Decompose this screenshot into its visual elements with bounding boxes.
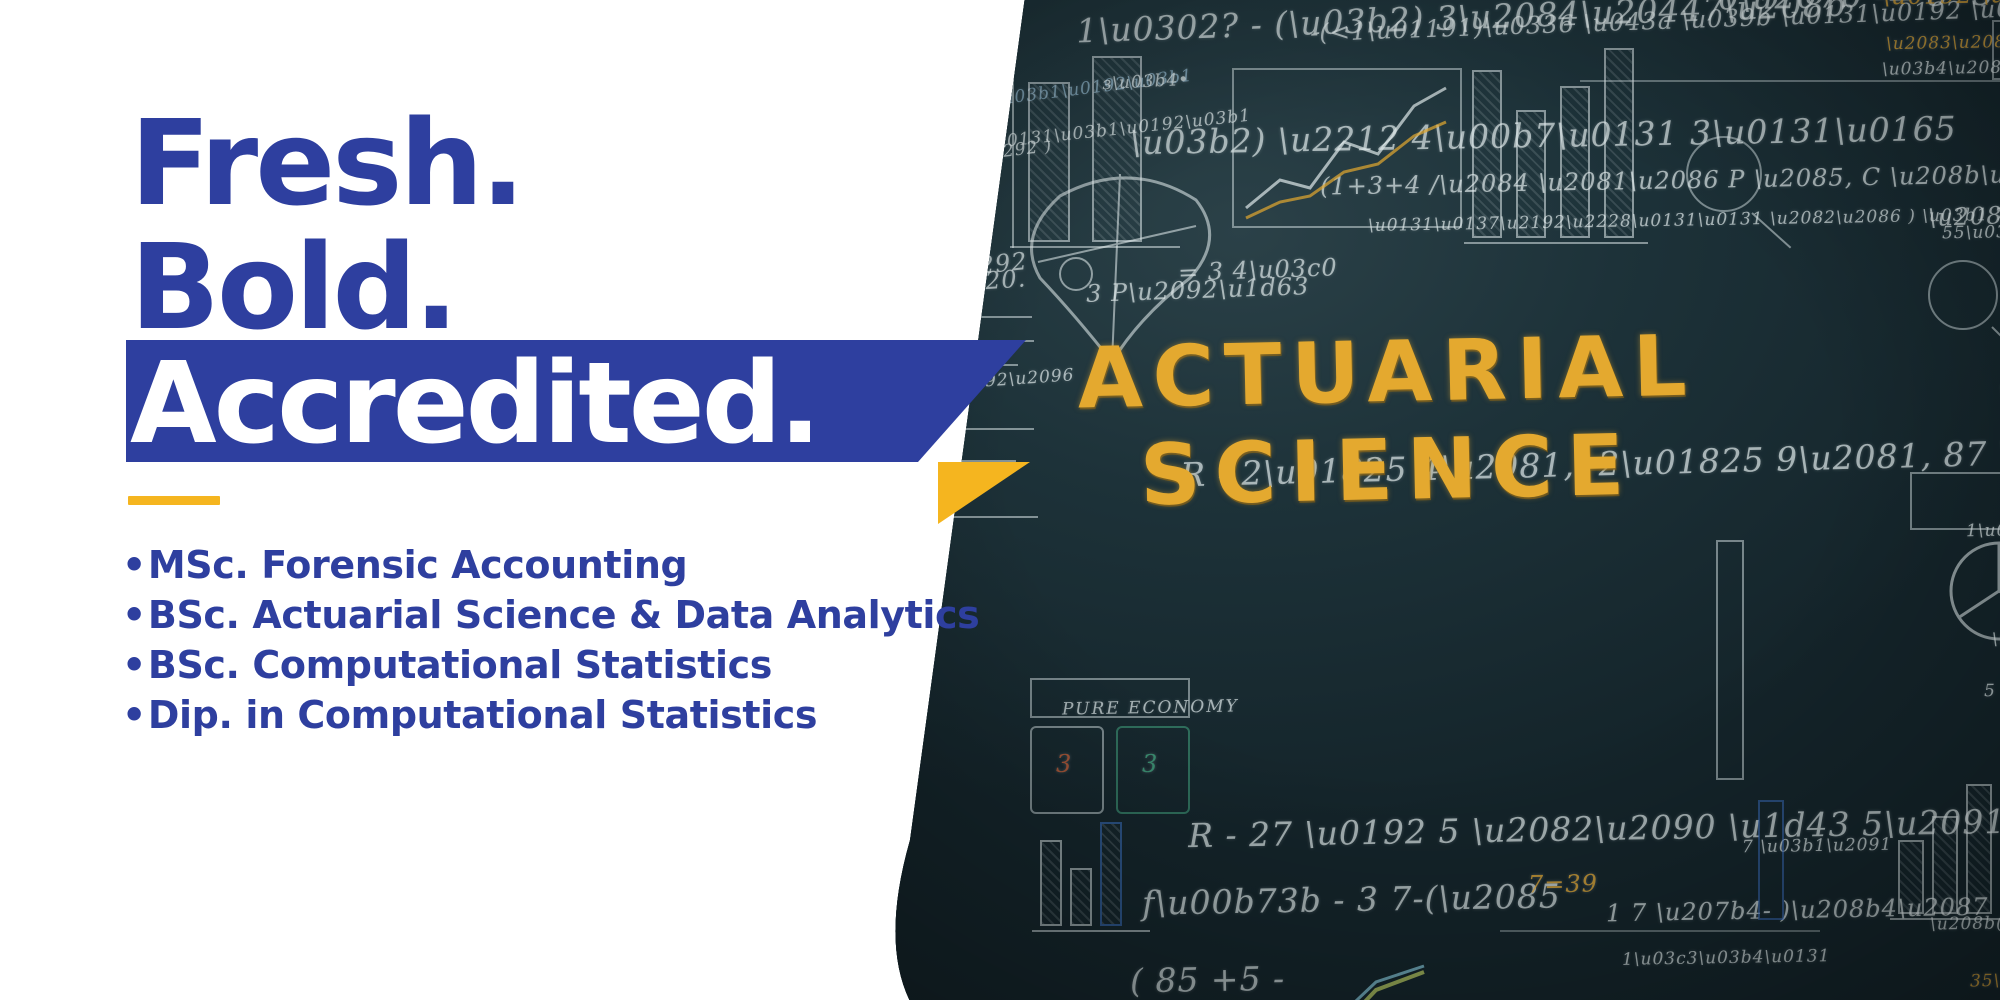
left-content-panel: Fresh. Bold. Accredited. •MSc. Forensic … (0, 0, 900, 1000)
bullet-glyph: • (122, 543, 146, 587)
programme-label: MSc. Forensic Accounting (148, 543, 687, 587)
bullet-glyph: • (122, 643, 146, 687)
chalk-note: 08 s\u0131q (893, 31, 1012, 65)
headline-line-bold: Bold. (130, 228, 456, 346)
promotional-banner: y\u0131c ‑1 1 08 s\u0131q v\u03b1) ‑ \u0… (0, 0, 2000, 1000)
bullet-glyph: • (122, 693, 146, 737)
photo-vignette (880, 0, 2000, 1000)
programme-label: BSc. Computational Statistics (148, 643, 772, 687)
list-item: •Dip. in Computational Statistics (122, 690, 979, 740)
programme-list: •MSc. Forensic Accounting •BSc. Actuaria… (122, 540, 979, 741)
list-item: •BSc. Computational Statistics (122, 640, 979, 690)
chalkboard-photo: y\u0131c ‑1 1 08 s\u0131q v\u03b1) ‑ \u0… (880, 0, 2000, 1000)
list-item: •BSc. Actuarial Science & Data Analytics (122, 590, 979, 640)
bullet-glyph: • (122, 593, 146, 637)
headline-line-fresh: Fresh. (130, 104, 522, 222)
programme-label: Dip. in Computational Statistics (148, 693, 817, 737)
yellow-divider-rule (128, 496, 220, 505)
headline-line-accredited: Accredited. (130, 348, 818, 460)
list-item: •MSc. Forensic Accounting (122, 540, 979, 590)
programme-label: BSc. Actuarial Science & Data Analytics (148, 593, 979, 637)
chalk-note: y\u0131c ‑1 1 (899, 0, 1031, 16)
